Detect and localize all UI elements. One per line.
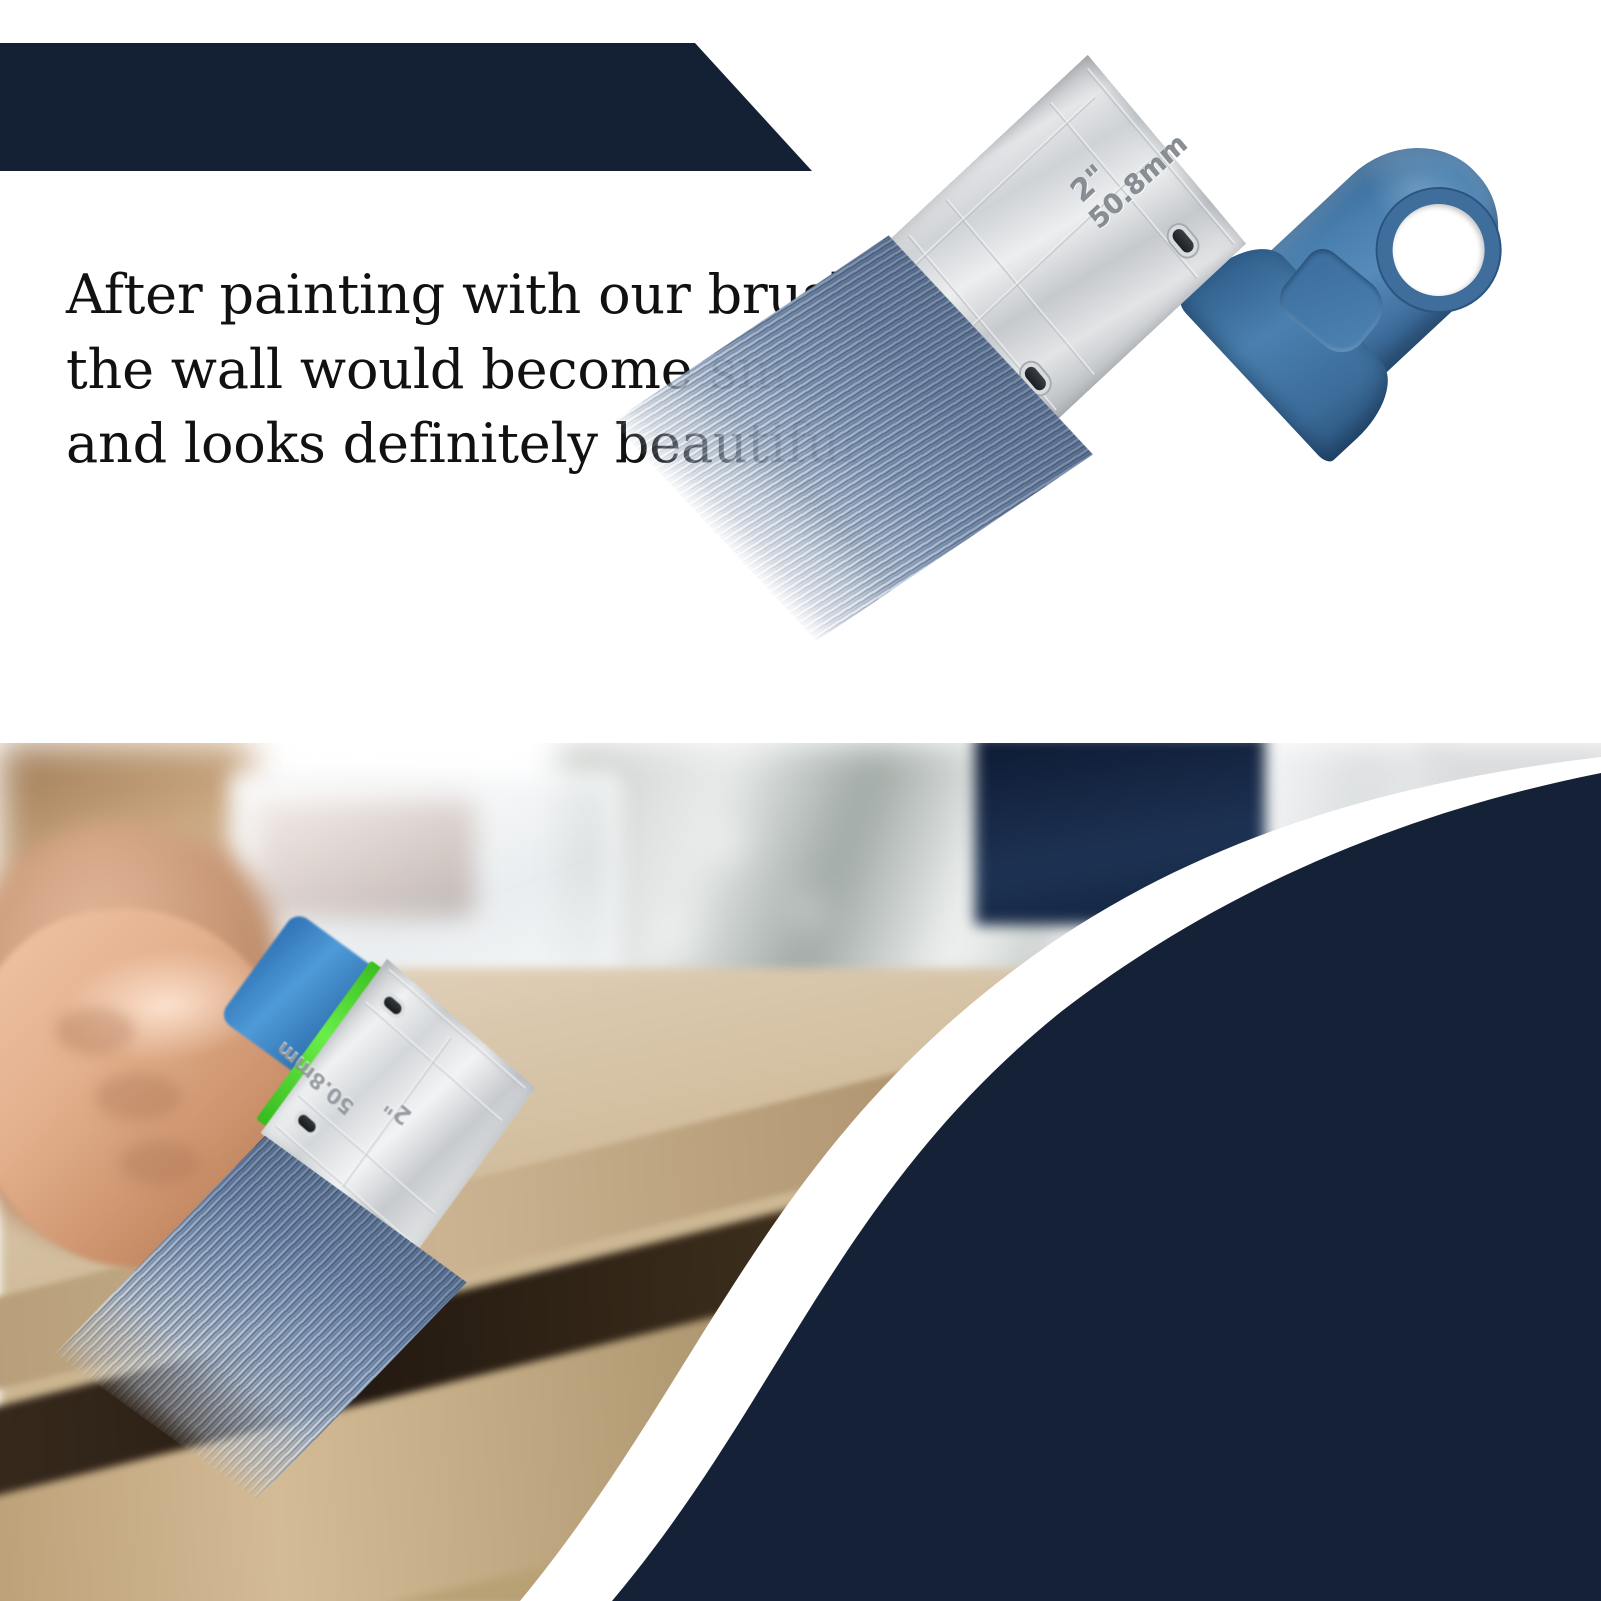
- rivet: [296, 1113, 318, 1135]
- top-section: After painting with our brushes, the wal…: [0, 0, 1601, 743]
- photo-knuckle: [55, 1008, 135, 1054]
- product-paint-brush: 50.8mm 2": [830, 40, 1590, 720]
- photo-dark-object: [975, 743, 1265, 925]
- photo-wall-right: [1420, 743, 1601, 983]
- bottom-section: 50.8mm 2": [0, 743, 1601, 1601]
- poster-canvas: After painting with our brushes, the wal…: [0, 0, 1601, 1601]
- rivet: [382, 994, 404, 1016]
- lifestyle-photo: 50.8mm 2": [0, 743, 1601, 1601]
- in-use-paint-brush: 50.8mm 2": [190, 978, 750, 1538]
- navy-ribbon-banner: [0, 43, 812, 171]
- brush-handle: [1237, 112, 1534, 405]
